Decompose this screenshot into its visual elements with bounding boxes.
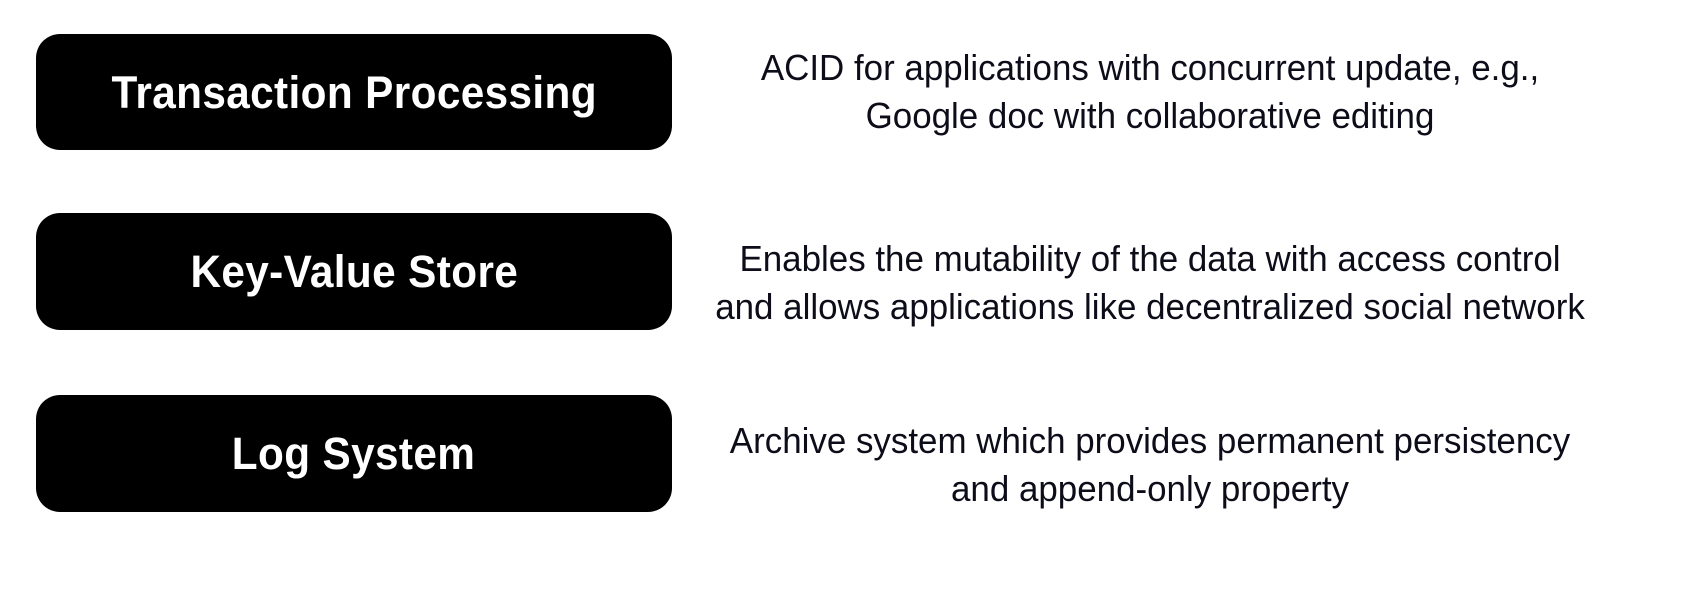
feature-description-container: Enables the mutability of the data with … bbox=[700, 203, 1600, 363]
feature-label-text: Log System bbox=[232, 431, 476, 476]
feature-label-box-transaction-processing[interactable]: Transaction Processing bbox=[36, 34, 672, 150]
feature-row: Log System Archive system which provides… bbox=[0, 395, 1704, 512]
slide-canvas: Transaction Processing ACID for applicat… bbox=[0, 0, 1704, 594]
feature-description-text: ACID for applications with concurrent up… bbox=[714, 44, 1587, 140]
feature-description-text: Archive system which provides permanent … bbox=[714, 417, 1587, 513]
feature-label-box-log-system[interactable]: Log System bbox=[36, 395, 672, 512]
feature-row: Key-Value Store Enables the mutability o… bbox=[0, 213, 1704, 330]
feature-description-container: Archive system which provides permanent … bbox=[700, 405, 1600, 525]
feature-label-text: Transaction Processing bbox=[111, 70, 596, 115]
feature-label-box-key-value-store[interactable]: Key-Value Store bbox=[36, 213, 672, 330]
feature-row: Transaction Processing ACID for applicat… bbox=[0, 34, 1704, 150]
feature-description-container: ACID for applications with concurrent up… bbox=[700, 34, 1600, 150]
feature-label-text: Key-Value Store bbox=[190, 249, 518, 294]
feature-description-text: Enables the mutability of the data with … bbox=[714, 235, 1587, 331]
